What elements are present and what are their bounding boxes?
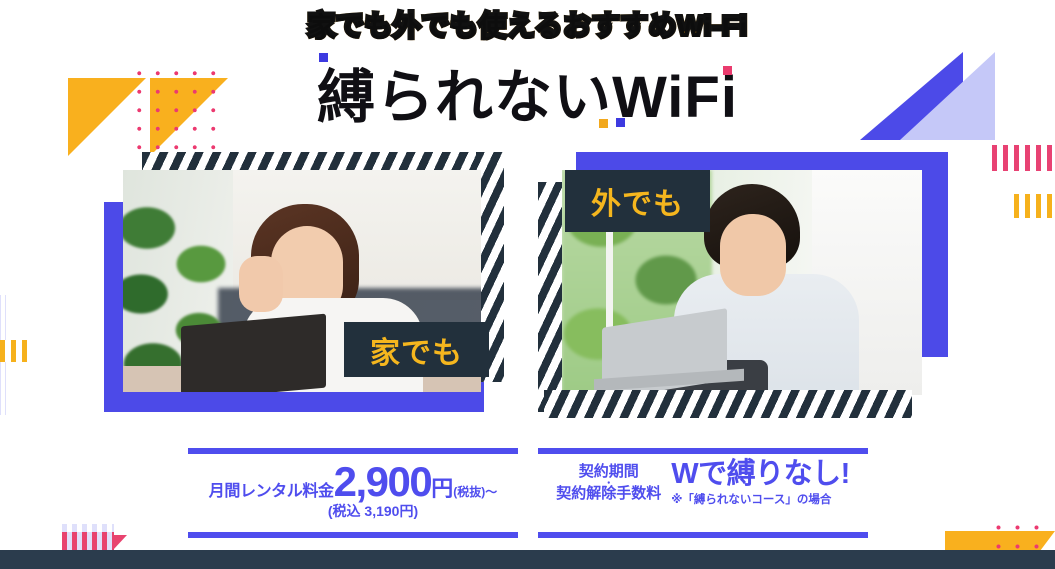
- price-amount: 2,900: [334, 462, 432, 502]
- terms-label: 契約期間 ・ 契約解除手数料: [556, 464, 661, 502]
- diagonal-stripe-band: [544, 390, 912, 418]
- divider-line: [188, 532, 518, 538]
- divider-line: [538, 532, 868, 538]
- footer-bar: [0, 550, 1055, 569]
- catchcopy-heading: 家でも外でも使えるおすすめWi-Fi: [0, 4, 1055, 44]
- terms-headline: Wで縛りなし!: [671, 460, 850, 489]
- badge-home: 家でも: [344, 322, 489, 377]
- divider-line: [188, 448, 518, 454]
- poster-stage: 家でも外でも使えるおすすめWi-Fi 縛られないWiFi 家でも: [0, 0, 1055, 569]
- orange-stripe-bars-icon: [1014, 194, 1055, 218]
- price-tax-note: (税抜)〜: [453, 483, 497, 500]
- badge-outside-label: 外でも: [591, 179, 684, 223]
- brand-logo: 縛られないWiFi: [0, 50, 1055, 134]
- pink-stripe-bars-icon: [992, 145, 1055, 171]
- badge-home-label: 家でも: [370, 328, 463, 372]
- logo-text-wifi: WiFi: [612, 64, 738, 131]
- terms-value: Wで縛りなし! ※「縛られないコース」の場合: [671, 460, 850, 507]
- price-block: 月間レンタル料金 2,900 円 (税抜)〜 (税込 3,190円): [188, 462, 518, 521]
- terms-note: ※「縛られないコース」の場合: [671, 491, 850, 507]
- price-label: 月間レンタル料金: [209, 477, 334, 501]
- terms-block: 契約期間 ・ 契約解除手数料 Wで縛りなし! ※「縛られないコース」の場合: [538, 460, 868, 507]
- orange-stripe-bars-icon: [0, 340, 32, 362]
- photo-card-outside: 外でも: [538, 152, 948, 420]
- terms-label-line2: 契約解除手数料: [556, 486, 661, 503]
- badge-outside: 外でも: [565, 170, 710, 232]
- photo-card-home: 家でも: [104, 152, 504, 412]
- feature-strip: 月間レンタル料金 2,900 円 (税抜)〜 (税込 3,190円) 契約期間 …: [0, 448, 1055, 548]
- catchcopy-text: 家でも外でも使えるおすすめWi-Fi: [307, 10, 747, 41]
- divider-line: [538, 448, 868, 454]
- logo-text-japanese: 縛られない: [317, 50, 612, 134]
- price-tax-included: (税込 3,190円): [188, 501, 518, 521]
- price-currency: 円: [431, 471, 453, 503]
